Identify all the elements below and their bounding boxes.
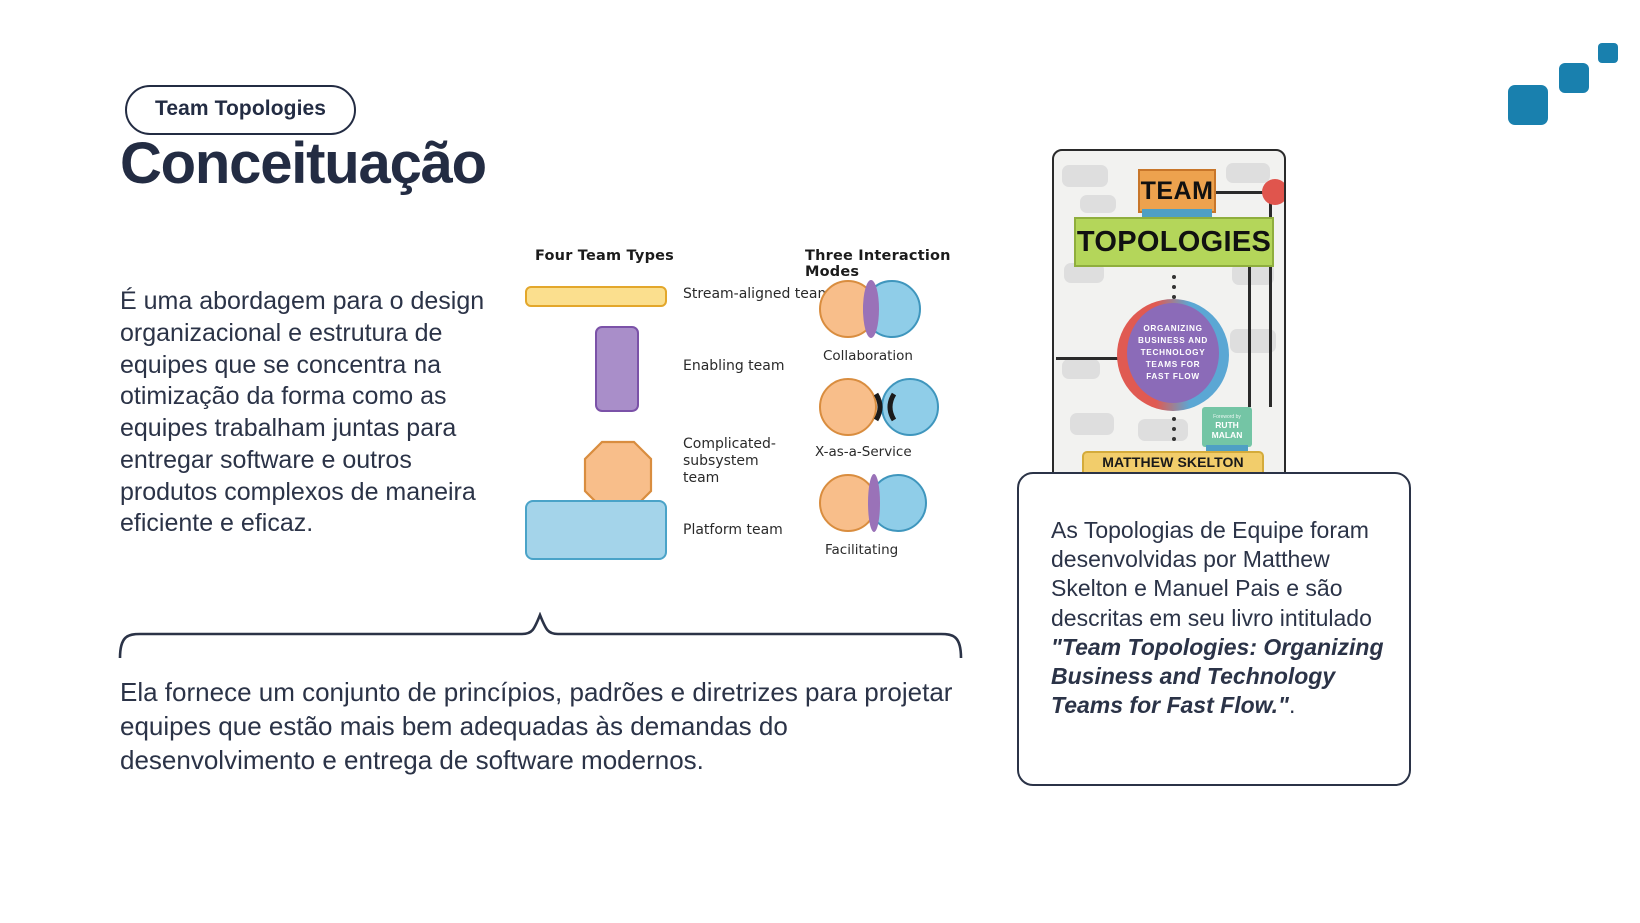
collaboration-label: Collaboration xyxy=(823,348,973,364)
cover-blob xyxy=(1138,419,1188,441)
cover-blob xyxy=(1226,163,1270,183)
cover-blob xyxy=(1062,165,1108,187)
callout-book-title: "Team Topologies: Organizing Business an… xyxy=(1051,634,1384,718)
three-interaction-modes-heading: Three Interaction Modes xyxy=(805,248,993,280)
cover-title-team: TEAM xyxy=(1138,169,1216,213)
platform-team-label: Platform team xyxy=(683,522,783,539)
section-badge: Team Topologies xyxy=(125,85,356,135)
intro-paragraph: É uma abordagem para o design organizaci… xyxy=(120,286,500,540)
cover-dot xyxy=(1172,285,1176,289)
three-squares-logo xyxy=(1502,42,1632,132)
complicated-subsystem-team-label: Complicated-subsystem team xyxy=(683,436,793,486)
logo-square-small xyxy=(1598,43,1618,63)
x-as-a-service-label: X-as-a-Service xyxy=(815,444,965,460)
cover-subtitle: ORGANIZING BUSINESS AND TECHNOLOGY TEAMS… xyxy=(1127,303,1219,403)
callout-box: As Topologias de Equipe foram desenvolvi… xyxy=(1017,472,1411,786)
team-topologies-figure: Four Team Types Three Interaction Modes … xyxy=(523,248,993,568)
four-team-types-heading: Four Team Types xyxy=(535,248,674,264)
page-title: Conceituação xyxy=(120,132,486,196)
cover-connector-line xyxy=(1056,357,1118,360)
cover-dot xyxy=(1172,275,1176,279)
callout-text-before: As Topologias de Equipe foram desenvolvi… xyxy=(1051,517,1372,631)
cover-blob xyxy=(1070,413,1114,435)
cover-foreword-name-1: RUTH xyxy=(1215,420,1239,430)
collaboration-overlap-lens xyxy=(863,280,879,338)
cover-blob xyxy=(1062,359,1100,379)
stream-aligned-team-label: Stream-aligned team xyxy=(683,286,831,303)
callout-text: As Topologias de Equipe foram desenvolvi… xyxy=(1051,516,1389,720)
enabling-team-label: Enabling team xyxy=(683,358,785,375)
facilitating-mode-diagram xyxy=(819,472,937,538)
cover-blob xyxy=(1080,195,1116,213)
facilitating-label: Facilitating xyxy=(825,542,975,558)
x-as-a-service-mode-diagram xyxy=(819,376,937,442)
book-cover-image: TEAM TOPOLOGIES ORGANIZING BUSINESS AND … xyxy=(1052,149,1286,499)
stream-aligned-team-shape xyxy=(525,286,667,307)
collaboration-mode-diagram xyxy=(819,278,937,344)
slide-root: Team Topologies Conceituação É uma abord… xyxy=(0,0,1640,923)
cover-dot xyxy=(1172,427,1176,431)
cover-dot xyxy=(1172,417,1176,421)
logo-square-medium xyxy=(1559,63,1589,93)
cover-foreword-label: Foreword by xyxy=(1213,414,1241,420)
cover-dot xyxy=(1172,437,1176,441)
cover-red-node xyxy=(1262,179,1286,205)
enabling-team-shape xyxy=(595,326,639,412)
cover-foreword-badge: Foreword by RUTH MALAN xyxy=(1202,407,1252,447)
facilitating-overlap-lens xyxy=(868,474,880,532)
cover-foreword-name-2: MALAN xyxy=(1212,430,1243,440)
xaas-connector-icon xyxy=(874,392,896,422)
cover-title-topologies: TOPOLOGIES xyxy=(1074,217,1274,267)
curly-brace-divider xyxy=(118,612,963,658)
cover-author-1: MATTHEW SKELTON xyxy=(1102,455,1244,470)
platform-team-shape xyxy=(525,500,667,560)
summary-paragraph: Ela fornece um conjunto de princípios, p… xyxy=(120,676,980,777)
callout-text-after: . xyxy=(1289,692,1295,718)
logo-square-large xyxy=(1508,85,1548,125)
xaas-orange-circle xyxy=(819,378,877,436)
